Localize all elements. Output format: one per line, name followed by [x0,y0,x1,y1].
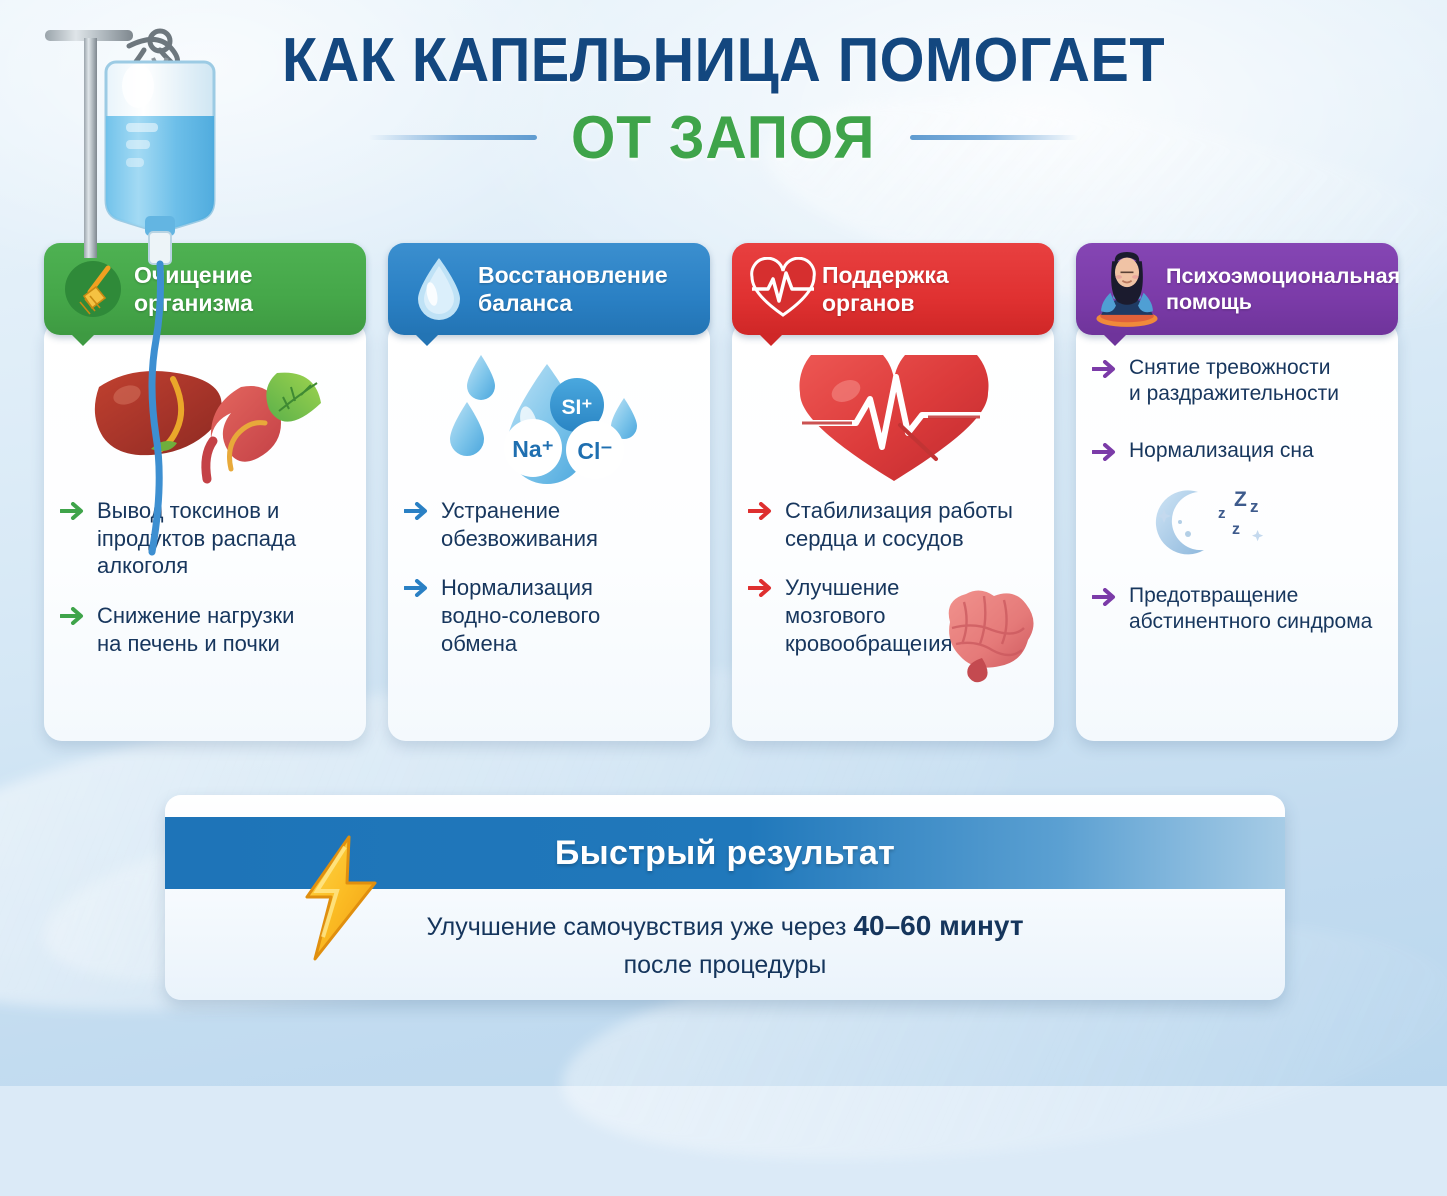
card-header-balance[interactable]: Восстановление баланса [388,243,710,335]
water-drop-icon [402,252,476,326]
card-header-psycho[interactable]: Психоэмоциональная помощь [1076,243,1398,335]
svg-text:z: z [1232,521,1240,538]
arrow-right-icon [748,579,774,602]
arrow-right-icon [404,579,430,602]
card-balance: Восстановление баланса [388,243,710,743]
bullet-list-organs: Стабилизация работы сердца и сосудов Улу… [748,497,1040,658]
page-subtitle: ОТ ЗАПОЯ [571,103,875,172]
card-body-organs: Стабилизация работы сердца и сосудов Улу… [732,321,1054,741]
bullet-list-balance: Устранение обезвоживания Нормализация во… [404,497,696,658]
arrow-right-icon [60,607,86,630]
banner-subtitle-line1: Улучшение самочувствия уже через 40–60 м… [426,913,1023,941]
banner-line1-prefix: Улучшение самочувствия уже через [426,913,853,941]
title-rule-right [910,135,1078,140]
list-item-label: Устранение обезвоживания [441,497,598,552]
card-body-balance: SI⁺ Na⁺ Cl⁻ Устранение обезвоживания [388,321,710,741]
banner-subtitle: Улучшение самочувствия уже через 40–60 м… [165,905,1285,985]
bullet-list-psycho: Снятие тревожности и раздражительности Н… [1092,355,1384,636]
heart-ecg-icon [748,347,1040,497]
svg-text:z: z [1250,497,1259,516]
banner-duration-value: 40–60 минут [853,910,1023,941]
card-title-organs: Поддержка органов [820,261,955,317]
list-item: Улучшение мозгового кровообращеıия [748,574,1040,657]
list-item: Нормализация водно-солевого обмена [404,574,696,657]
arrow-right-icon [1092,360,1118,383]
title-rule-left [369,135,537,140]
list-item-label: Снижение нагрузки на печень и почки [97,602,294,657]
fast-result-banner: Быстрый результат Улучшение самочувствия… [165,795,1285,1000]
list-item: Снятие тревожности и раздражительности [1092,355,1384,408]
card-title-psycho: Психоэмоциональная помощь [1164,263,1406,315]
card-psycho: Психоэмоциональная помощь Снятие тревожн… [1076,243,1398,743]
moon-sleep-icon: Z z z z [1146,482,1384,563]
svg-text:Cl⁻: Cl⁻ [577,438,612,464]
arrow-right-icon [1092,443,1118,466]
iv-drip-bag-icon [34,8,264,568]
arrow-right-icon [748,502,774,525]
list-item-label: Нормализация сна [1129,438,1314,464]
banner-subtitle-line2: после процедуры [624,951,827,979]
card-organs: Поддержка органов [732,243,1054,743]
list-item: Предотвращение абстинентного синдрома [1092,583,1384,636]
arrow-right-icon [1092,588,1118,611]
list-item: Устранение обезвоживания [404,497,696,552]
card-header-organs[interactable]: Поддержка органов [732,243,1054,335]
list-item-label: Стабилизация работы сердца и сосудов [785,497,1013,552]
banner-title: Быстрый результат [555,834,895,873]
arrow-right-icon [404,502,430,525]
heart-pulse-icon [746,252,820,326]
svg-text:SI⁺: SI⁺ [562,396,593,419]
list-item: Стабилизация работы сердца и сосудов [748,497,1040,552]
svg-text:z: z [1218,505,1226,522]
svg-text:Z: Z [1234,488,1247,511]
svg-text:Na⁺: Na⁺ [512,436,554,462]
electrolyte-drops-icon: SI⁺ Na⁺ Cl⁻ [404,347,696,497]
list-item-label: Снятие тревожности и раздражительности [1129,355,1339,408]
card-title-balance: Восстановление баланса [476,261,674,317]
list-item-label: Нормализация водно-солевого обмена [441,574,600,657]
list-item: Нормализация сна [1092,438,1384,466]
list-item: Снижение нагрузки на печень и почки [60,602,352,657]
brain-icon [928,584,1046,689]
card-body-psycho: Снятие тревожности и раздражительности Н… [1076,321,1398,741]
meditating-woman-icon [1090,252,1164,326]
list-item-label: Предотвращение абстинентного синдрома [1129,583,1372,636]
